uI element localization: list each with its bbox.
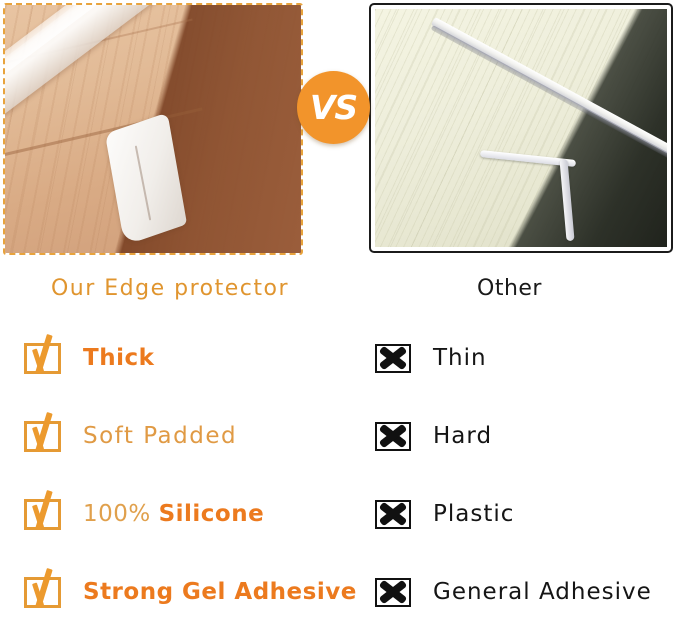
checkmark-icon xyxy=(24,343,61,374)
cream-table-surface xyxy=(375,9,667,247)
feature-row: 100% Silicone Plastic xyxy=(0,486,679,564)
cross-icon xyxy=(375,500,411,529)
cross-icon xyxy=(375,344,411,373)
feature-label-ours: Strong Gel Adhesive xyxy=(83,581,357,604)
feature-label-prefix: 100% xyxy=(83,501,159,527)
checkmark-icon xyxy=(24,499,61,530)
checkmark-icon xyxy=(24,421,61,452)
feature-label-main: Silicone xyxy=(159,501,265,527)
column-header-ours: Our Edge protector xyxy=(0,276,340,301)
feature-row: Thick Thin xyxy=(0,330,679,408)
feature-label-other: Plastic xyxy=(433,503,514,526)
feature-label-other: Thin xyxy=(433,347,487,370)
feature-cell-ours: Thick xyxy=(24,330,154,386)
feature-label-ours: Soft Padded xyxy=(83,425,237,448)
feature-cell-ours: Soft Padded xyxy=(24,408,237,464)
checkmark-icon xyxy=(24,577,61,608)
feature-label-other: Hard xyxy=(433,425,492,448)
product-photo-ours xyxy=(3,3,303,255)
feature-cell-other: Thin xyxy=(375,330,487,386)
feature-label-ours: Thick xyxy=(83,347,154,370)
feature-cell-other: Hard xyxy=(375,408,492,464)
feature-cell-other: General Adhesive xyxy=(375,564,652,620)
vs-badge: VS xyxy=(297,71,370,144)
feature-label-ours: 100% Silicone xyxy=(83,503,264,526)
thin-edge-shadow xyxy=(431,25,667,192)
feature-label-other: General Adhesive xyxy=(433,581,652,604)
thin-corner-tab-vertical xyxy=(559,159,574,241)
feature-cell-ours: Strong Gel Adhesive xyxy=(24,564,357,620)
cross-icon xyxy=(375,422,411,451)
cross-icon xyxy=(375,578,411,607)
column-headers: Our Edge protector Other xyxy=(0,276,679,312)
feature-row: Soft Padded Hard xyxy=(0,408,679,486)
vs-badge-label: VS xyxy=(310,91,357,124)
comparison-photos: VS xyxy=(0,0,679,262)
feature-cell-other: Plastic xyxy=(375,486,514,542)
column-header-other: Other xyxy=(340,276,679,301)
feature-cell-ours: 100% Silicone xyxy=(24,486,264,542)
feature-rows: Thick Thin Soft Padded Hard xyxy=(0,330,679,642)
feature-row: Strong Gel Adhesive General Adhesive xyxy=(0,564,679,642)
product-photo-other xyxy=(369,3,673,253)
